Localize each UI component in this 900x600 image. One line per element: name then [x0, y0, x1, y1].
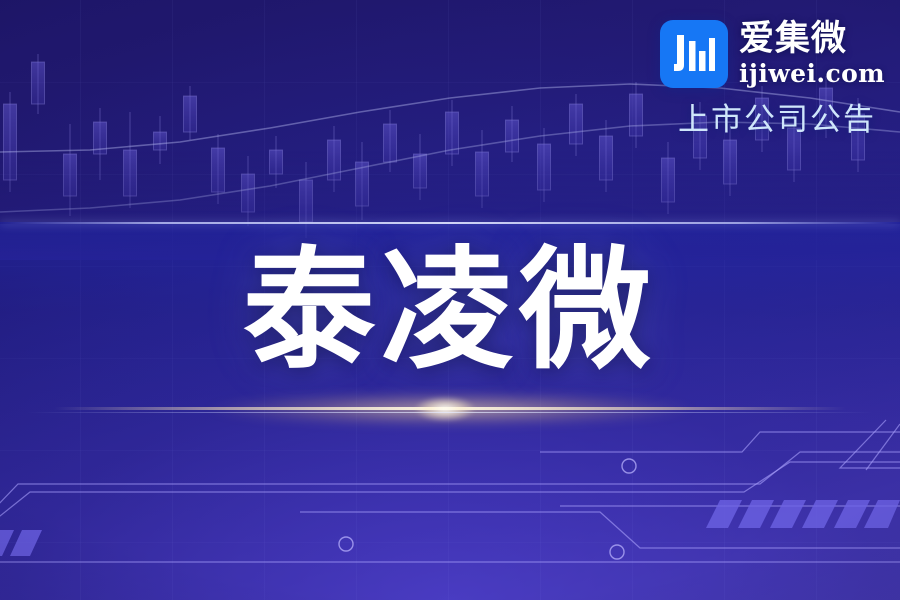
brand-name-en: ijiwei.com: [739, 60, 885, 87]
brand-name-cn: 爱集微: [739, 21, 885, 58]
circuit-node-icon: [610, 545, 624, 559]
circuit-node-icon: [622, 459, 636, 473]
circuit-node-icon: [339, 537, 353, 551]
brand-logo-row: 爱集微 ijiwei.com: [660, 20, 876, 88]
lens-flare-hotspot: [404, 392, 486, 426]
bar-chart-j-logo-icon: [660, 20, 728, 88]
top-divider-line: [0, 222, 900, 224]
banner-subtitle: 上市公司公告: [660, 102, 876, 138]
brand-wordmark: 爱集微 ijiwei.com: [739, 21, 885, 87]
circuit-accent-blocks: [0, 500, 900, 556]
announcement-banner: 泰凌微: [0, 0, 900, 600]
page-title: 泰凌微: [0, 236, 900, 386]
brand-logo-block[interactable]: 爱集微 ijiwei.com 上市公司公告: [660, 20, 876, 138]
lower-divider-line: [0, 412, 900, 413]
